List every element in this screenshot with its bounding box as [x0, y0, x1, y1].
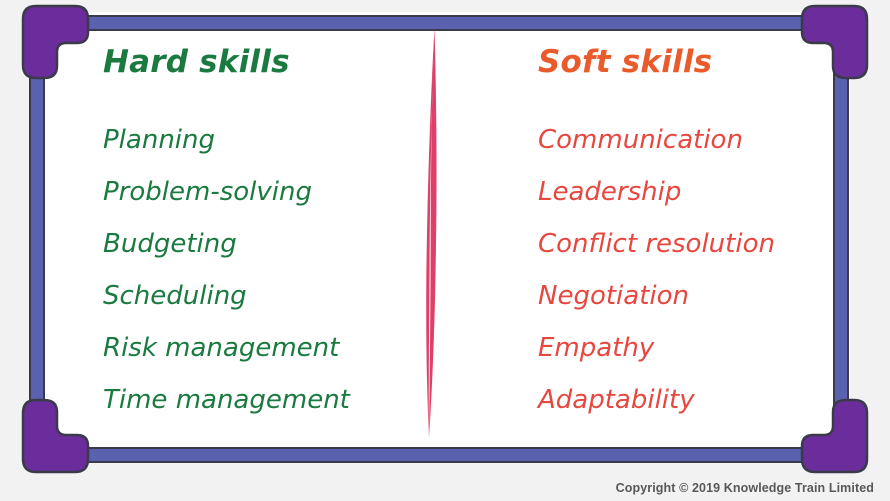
hard-skills-heading: Hard skills: [103, 44, 403, 80]
soft-skills-column: Soft skills Communication Leadership Con…: [538, 44, 858, 426]
list-item: Empathy: [538, 322, 858, 374]
center-divider: [410, 28, 450, 438]
list-item: Problem-solving: [103, 166, 403, 218]
slide: Hard skills Planning Problem-solving Bud…: [0, 0, 890, 501]
list-item: Conflict resolution: [538, 218, 858, 270]
list-item: Budgeting: [103, 218, 403, 270]
hard-skills-column: Hard skills Planning Problem-solving Bud…: [103, 44, 403, 426]
list-item: Risk management: [103, 322, 403, 374]
list-item: Communication: [538, 114, 858, 166]
soft-skills-heading: Soft skills: [538, 44, 858, 80]
copyright-notice: Copyright © 2019 Knowledge Train Limited: [616, 481, 874, 495]
list-item: Adaptability: [538, 374, 858, 426]
list-item: Planning: [103, 114, 403, 166]
list-item: Leadership: [538, 166, 858, 218]
list-item: Time management: [103, 374, 403, 426]
list-item: Scheduling: [103, 270, 403, 322]
list-item: Negotiation: [538, 270, 858, 322]
